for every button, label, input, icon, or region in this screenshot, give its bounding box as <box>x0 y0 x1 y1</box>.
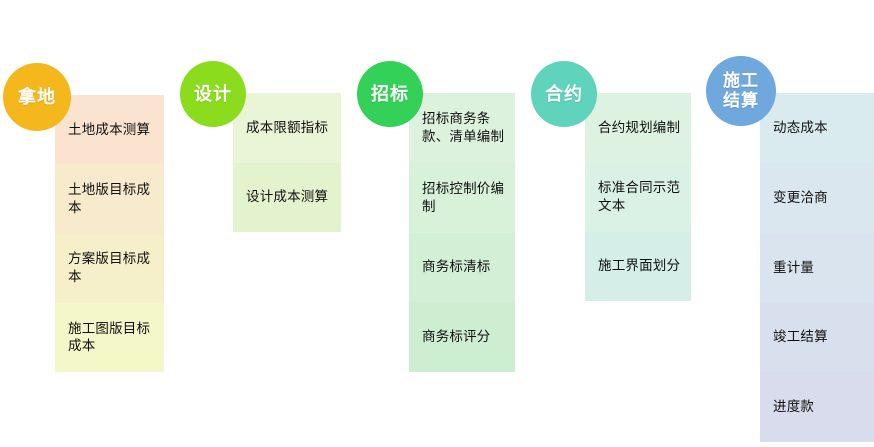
stage-item-label: 招标控制价编制 <box>422 180 509 216</box>
stage-badge-contract[interactable]: 合约 <box>531 61 597 127</box>
stage-item-label: 成本限额指标 <box>246 119 328 137</box>
stage-item-cell[interactable]: 招标商务条款、清单编制 <box>409 93 515 163</box>
stage-item-label: 进度款 <box>773 398 814 416</box>
stage-badge-label: 设计 <box>192 84 234 105</box>
stage-item-label: 设计成本测算 <box>246 188 328 206</box>
stage-item-cell[interactable]: 方案版目标成本 <box>55 234 164 303</box>
stage-badge-label-line2: 结算 <box>723 91 759 111</box>
stage-item-cell[interactable]: 变更洽商 <box>760 163 874 233</box>
stage-badge-label-line1: 施工 <box>723 71 759 91</box>
stage-column-contract: 合约规划编制标准合同示范文本施工界面划分 <box>585 93 691 301</box>
stage-column-land: 土地成本测算土地版目标成本方案版目标成本施工图版目标成本 <box>55 95 164 372</box>
stage-item-label: 施工界面划分 <box>598 257 680 275</box>
stage-column-design: 成本限额指标设计成本测算 <box>233 93 341 232</box>
stage-item-cell[interactable]: 合约规划编制 <box>585 93 691 162</box>
stage-item-label: 动态成本 <box>773 119 828 137</box>
stage-item-cell[interactable]: 动态成本 <box>760 93 874 163</box>
stage-item-label: 变更洽商 <box>773 189 828 207</box>
stage-item-cell[interactable]: 重计量 <box>760 233 874 303</box>
stage-item-cell[interactable]: 土地成本测算 <box>55 95 164 164</box>
stage-item-cell[interactable]: 商务标评分 <box>409 302 515 372</box>
stage-badge-construction[interactable]: 施工结算 <box>706 56 776 126</box>
stage-item-cell[interactable]: 招标控制价编制 <box>409 163 515 233</box>
stage-item-cell[interactable]: 进度款 <box>760 372 874 442</box>
stage-badge-label: 招标 <box>369 84 411 105</box>
stage-badge-tender[interactable]: 招标 <box>357 61 423 127</box>
stage-item-cell[interactable]: 施工图版目标成本 <box>55 303 164 372</box>
stage-item-label: 合约规划编制 <box>598 119 680 137</box>
stage-badge-design[interactable]: 设计 <box>180 61 246 127</box>
stage-item-cell[interactable]: 标准合同示范文本 <box>585 162 691 231</box>
stage-column-construction: 动态成本变更洽商重计量竣工结算进度款 <box>760 93 874 442</box>
process-flow-diagram: 土地成本测算土地版目标成本方案版目标成本施工图版目标成本拿地成本限额指标设计成本… <box>0 0 874 447</box>
stage-item-label: 招标商务条款、清单编制 <box>422 110 509 146</box>
stage-badge-label: 合约 <box>543 84 585 105</box>
stage-badge-label: 拿地 <box>16 87 58 108</box>
stage-item-label: 商务标评分 <box>422 328 491 346</box>
stage-item-cell[interactable]: 成本限额指标 <box>233 93 341 163</box>
stage-column-tender: 招标商务条款、清单编制招标控制价编制商务标清标商务标评分 <box>409 93 515 372</box>
stage-item-label: 施工图版目标成本 <box>68 320 158 356</box>
stage-item-label: 重计量 <box>773 259 814 277</box>
stage-item-cell[interactable]: 设计成本测算 <box>233 163 341 233</box>
stage-item-cell[interactable]: 商务标清标 <box>409 233 515 303</box>
stage-item-cell[interactable]: 土地版目标成本 <box>55 164 164 233</box>
stage-badge-land[interactable]: 拿地 <box>3 63 71 131</box>
stage-item-label: 标准合同示范文本 <box>598 179 685 215</box>
stage-badge-label: 施工结算 <box>721 71 761 110</box>
stage-item-label: 土地版目标成本 <box>68 181 158 217</box>
stage-item-cell[interactable]: 施工界面划分 <box>585 232 691 301</box>
stage-item-label: 方案版目标成本 <box>68 250 158 286</box>
stage-item-cell[interactable]: 竣工结算 <box>760 302 874 372</box>
stage-item-label: 商务标清标 <box>422 258 491 276</box>
stage-item-label: 竣工结算 <box>773 328 828 346</box>
stage-item-label: 土地成本测算 <box>68 121 150 139</box>
